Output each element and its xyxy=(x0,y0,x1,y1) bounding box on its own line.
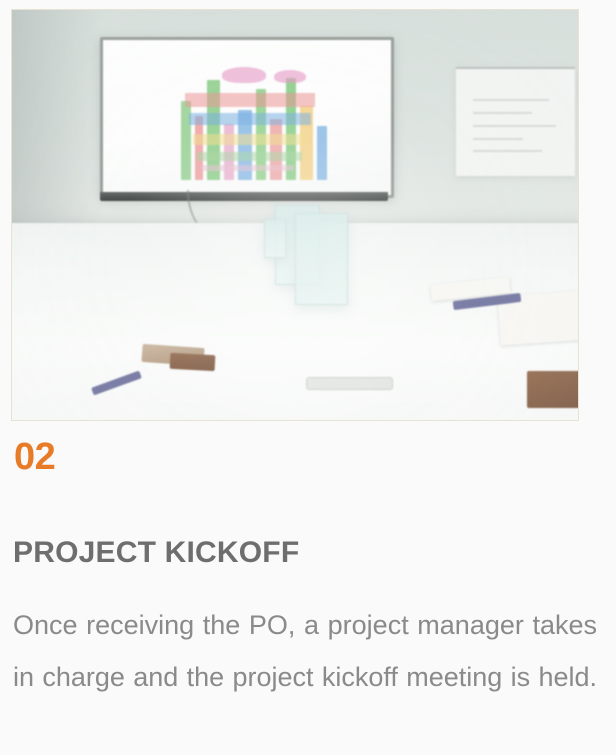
glass-object-front xyxy=(295,213,348,305)
whiteboard-screen xyxy=(100,37,395,199)
screen-chart xyxy=(149,52,351,180)
photo-canvas xyxy=(12,10,578,420)
wood-block-left2 xyxy=(170,353,216,372)
wall-poster xyxy=(456,67,575,176)
table-microphone xyxy=(306,377,393,390)
wood-block-right xyxy=(527,371,578,408)
step-number: 02 xyxy=(14,438,55,476)
meeting-photo xyxy=(11,9,579,421)
project-kickoff-card: 02 PROJECT KICKOFF Once receiving the PO… xyxy=(0,0,616,726)
page-title: PROJECT KICKOFF xyxy=(13,538,299,568)
body-text: Once receiving the PO, a project manager… xyxy=(13,599,597,755)
glass-object-small xyxy=(264,219,286,258)
